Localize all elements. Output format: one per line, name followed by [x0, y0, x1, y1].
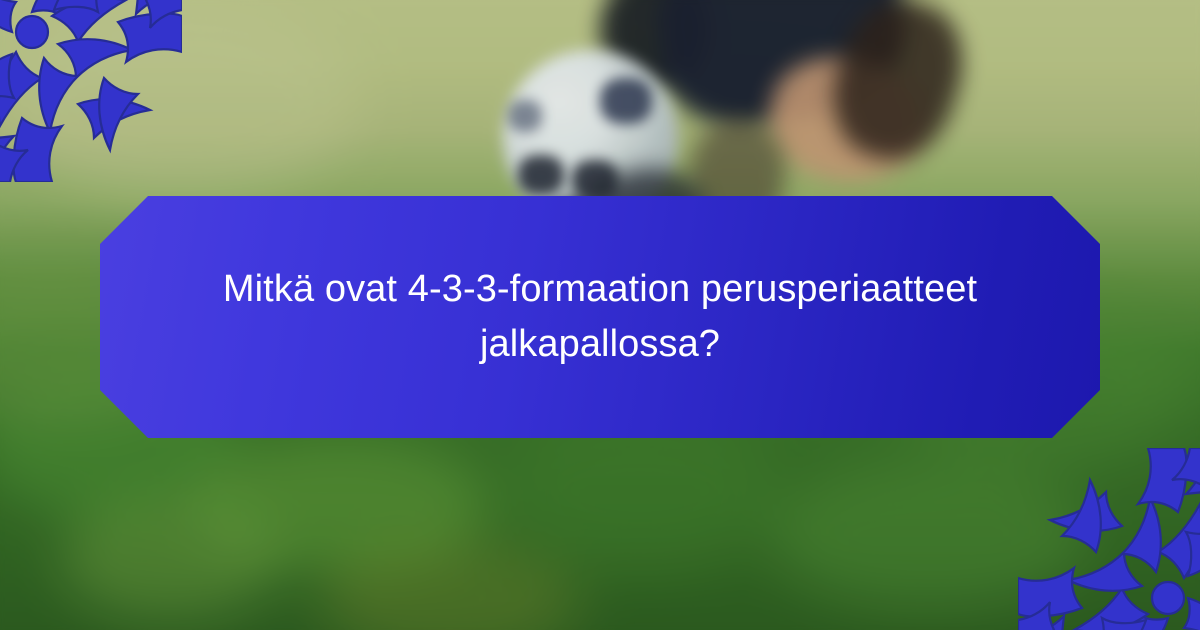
question-card: Mitkä ovat 4-3-3-formaation perusperiaat… — [0, 0, 1200, 630]
question-banner: Mitkä ovat 4-3-3-formaation perusperiaat… — [100, 196, 1100, 438]
question-text: Mitkä ovat 4-3-3-formaation perusperiaat… — [170, 262, 1030, 372]
